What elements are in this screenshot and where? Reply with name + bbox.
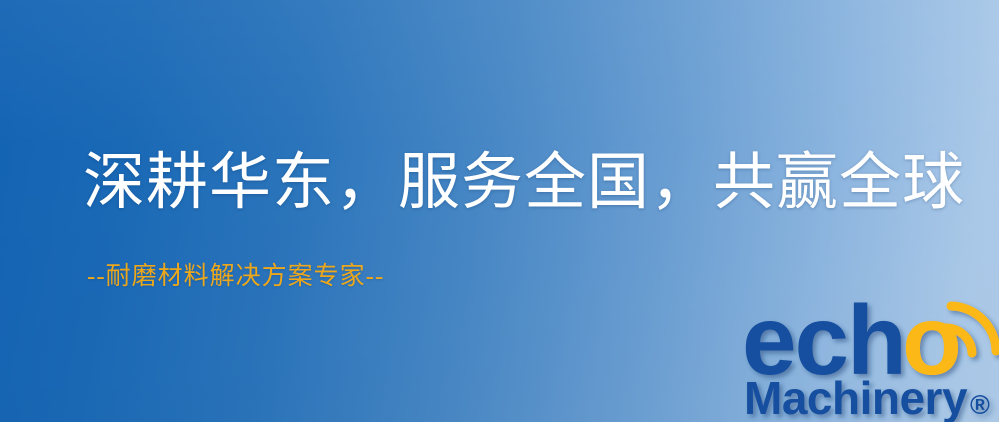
logo-tagline-machinery: Machinery (744, 372, 968, 422)
brand-logo[interactable]: ech o Machinery ® (742, 288, 999, 422)
registered-trademark-icon: ® (970, 390, 990, 420)
subtitle-tagline: --耐磨材料解决方案专家-- (87, 264, 384, 289)
logo-graphic: ech o Machinery ® (742, 288, 999, 422)
page-title: 深耕华东，服务全国，共赢全球 (83, 152, 965, 214)
promo-banner: 深耕华东，服务全国，共赢全球 --耐磨材料解决方案专家-- ech o Mach… (0, 0, 999, 422)
